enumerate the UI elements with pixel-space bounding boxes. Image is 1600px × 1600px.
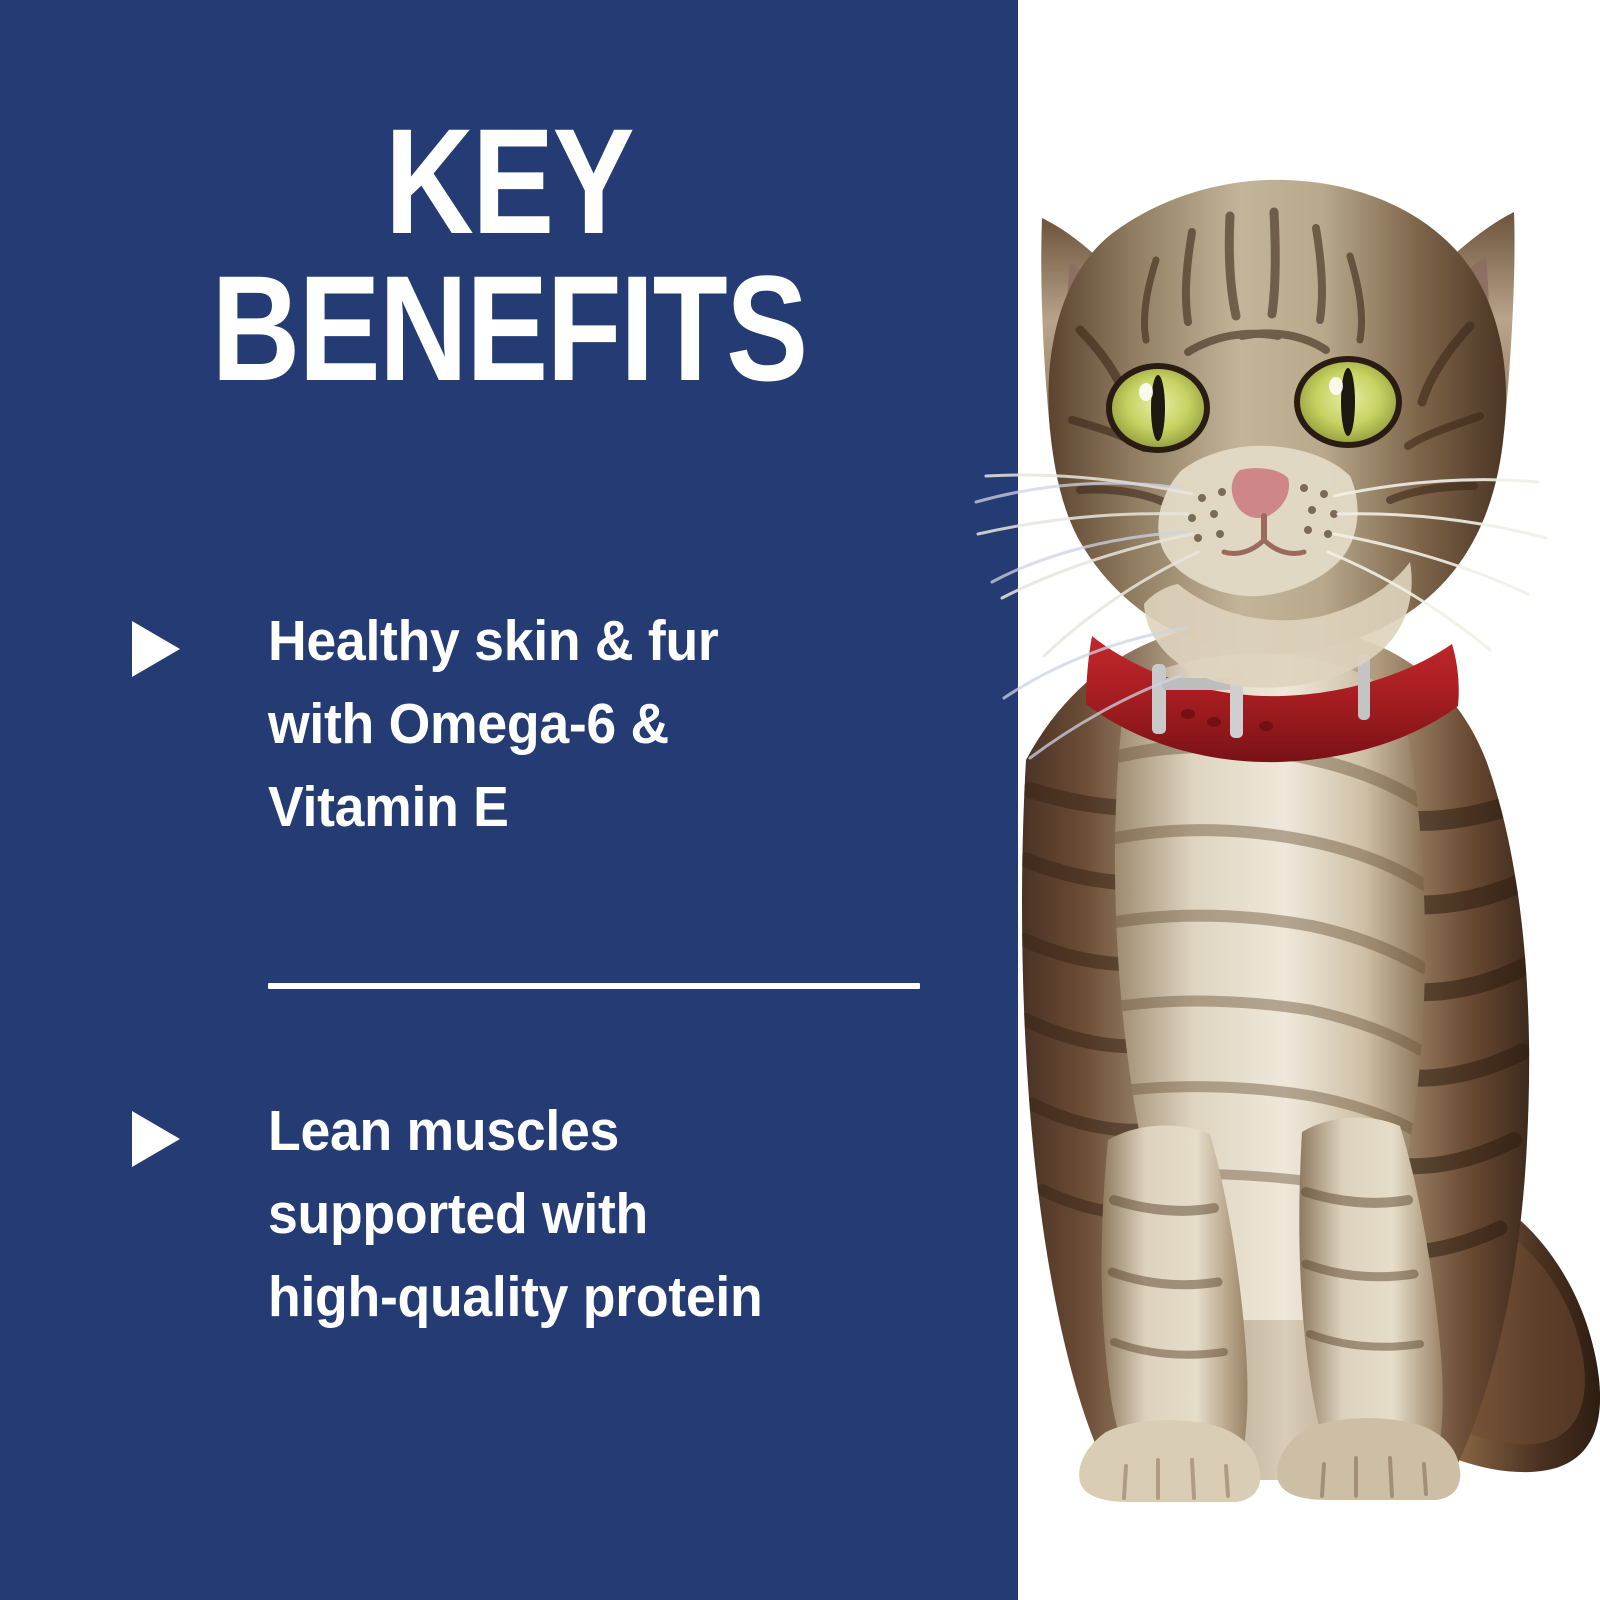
benefits-divider	[268, 983, 920, 989]
benefit-text-2: Lean muscles supported with high-quality…	[268, 1090, 762, 1339]
cat-photo	[930, 0, 1600, 1600]
key-benefits-banner: KEY BENEFITS Healthy skin & fur with Ome…	[0, 0, 1600, 1600]
benefit-text-1: Healthy skin & fur with Omega-6 & Vitami…	[268, 600, 718, 849]
benefits-list: Healthy skin & fur with Omega-6 & Vitami…	[0, 0, 1018, 1600]
triangle-right-icon	[128, 618, 184, 680]
triangle-right-icon	[128, 1108, 184, 1170]
benefit-item-2: Lean muscles supported with high-quality…	[128, 1090, 958, 1339]
benefit-item-1: Healthy skin & fur with Omega-6 & Vitami…	[128, 600, 958, 849]
